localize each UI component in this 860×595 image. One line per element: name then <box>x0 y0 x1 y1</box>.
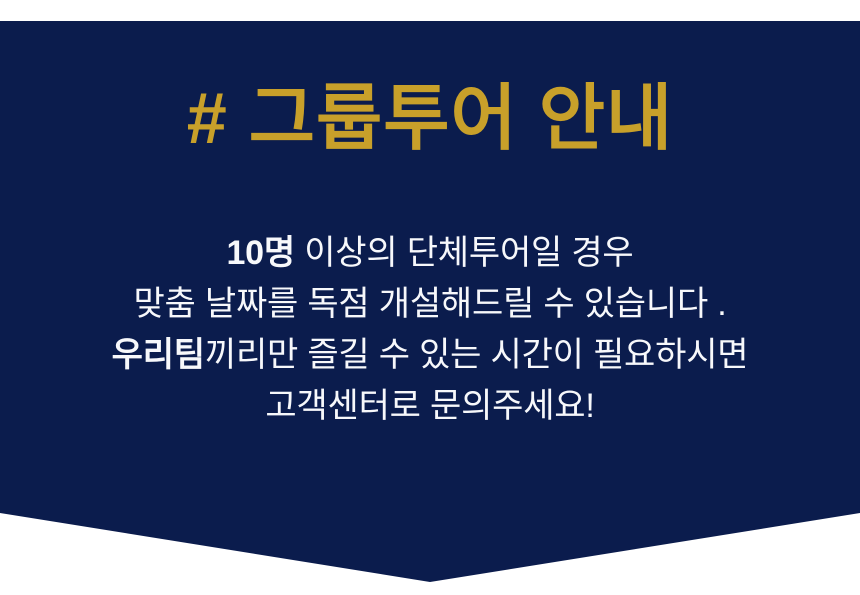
group-tour-banner: # 그룹투어 안내 10명 이상의 단체투어일 경우 맞춤 날짜를 독점 개설해… <box>0 0 860 595</box>
body-line-3: 우리팀끼리만 즐길 수 있는 시간이 필요하시면 <box>0 330 860 381</box>
body-line-4: 고객센터로 문의주세요! <box>0 381 860 432</box>
body-line-1: 10명 이상의 단체투어일 경우 <box>0 228 860 279</box>
banner-content: # 그룹투어 안내 10명 이상의 단체투어일 경우 맞춤 날짜를 독점 개설해… <box>0 21 860 582</box>
body-line-2: 맞춤 날짜를 독점 개설해드릴 수 있습니다 . <box>0 279 860 330</box>
banner-body-text: 10명 이상의 단체투어일 경우 맞춤 날짜를 독점 개설해드릴 수 있습니다 … <box>0 228 860 432</box>
body-line-1-rest: 이상의 단체투어일 경우 <box>295 234 634 272</box>
body-line-1-highlight: 10명 <box>226 234 295 272</box>
body-line-3-highlight: 우리팀 <box>112 336 205 374</box>
body-line-3-rest: 끼리만 즐길 수 있는 시간이 필요하시면 <box>205 336 749 374</box>
banner-navy-panel: # 그룹투어 안내 10명 이상의 단체투어일 경우 맞춤 날짜를 독점 개설해… <box>0 21 860 582</box>
banner-title: # 그룹투어 안내 <box>0 83 860 155</box>
